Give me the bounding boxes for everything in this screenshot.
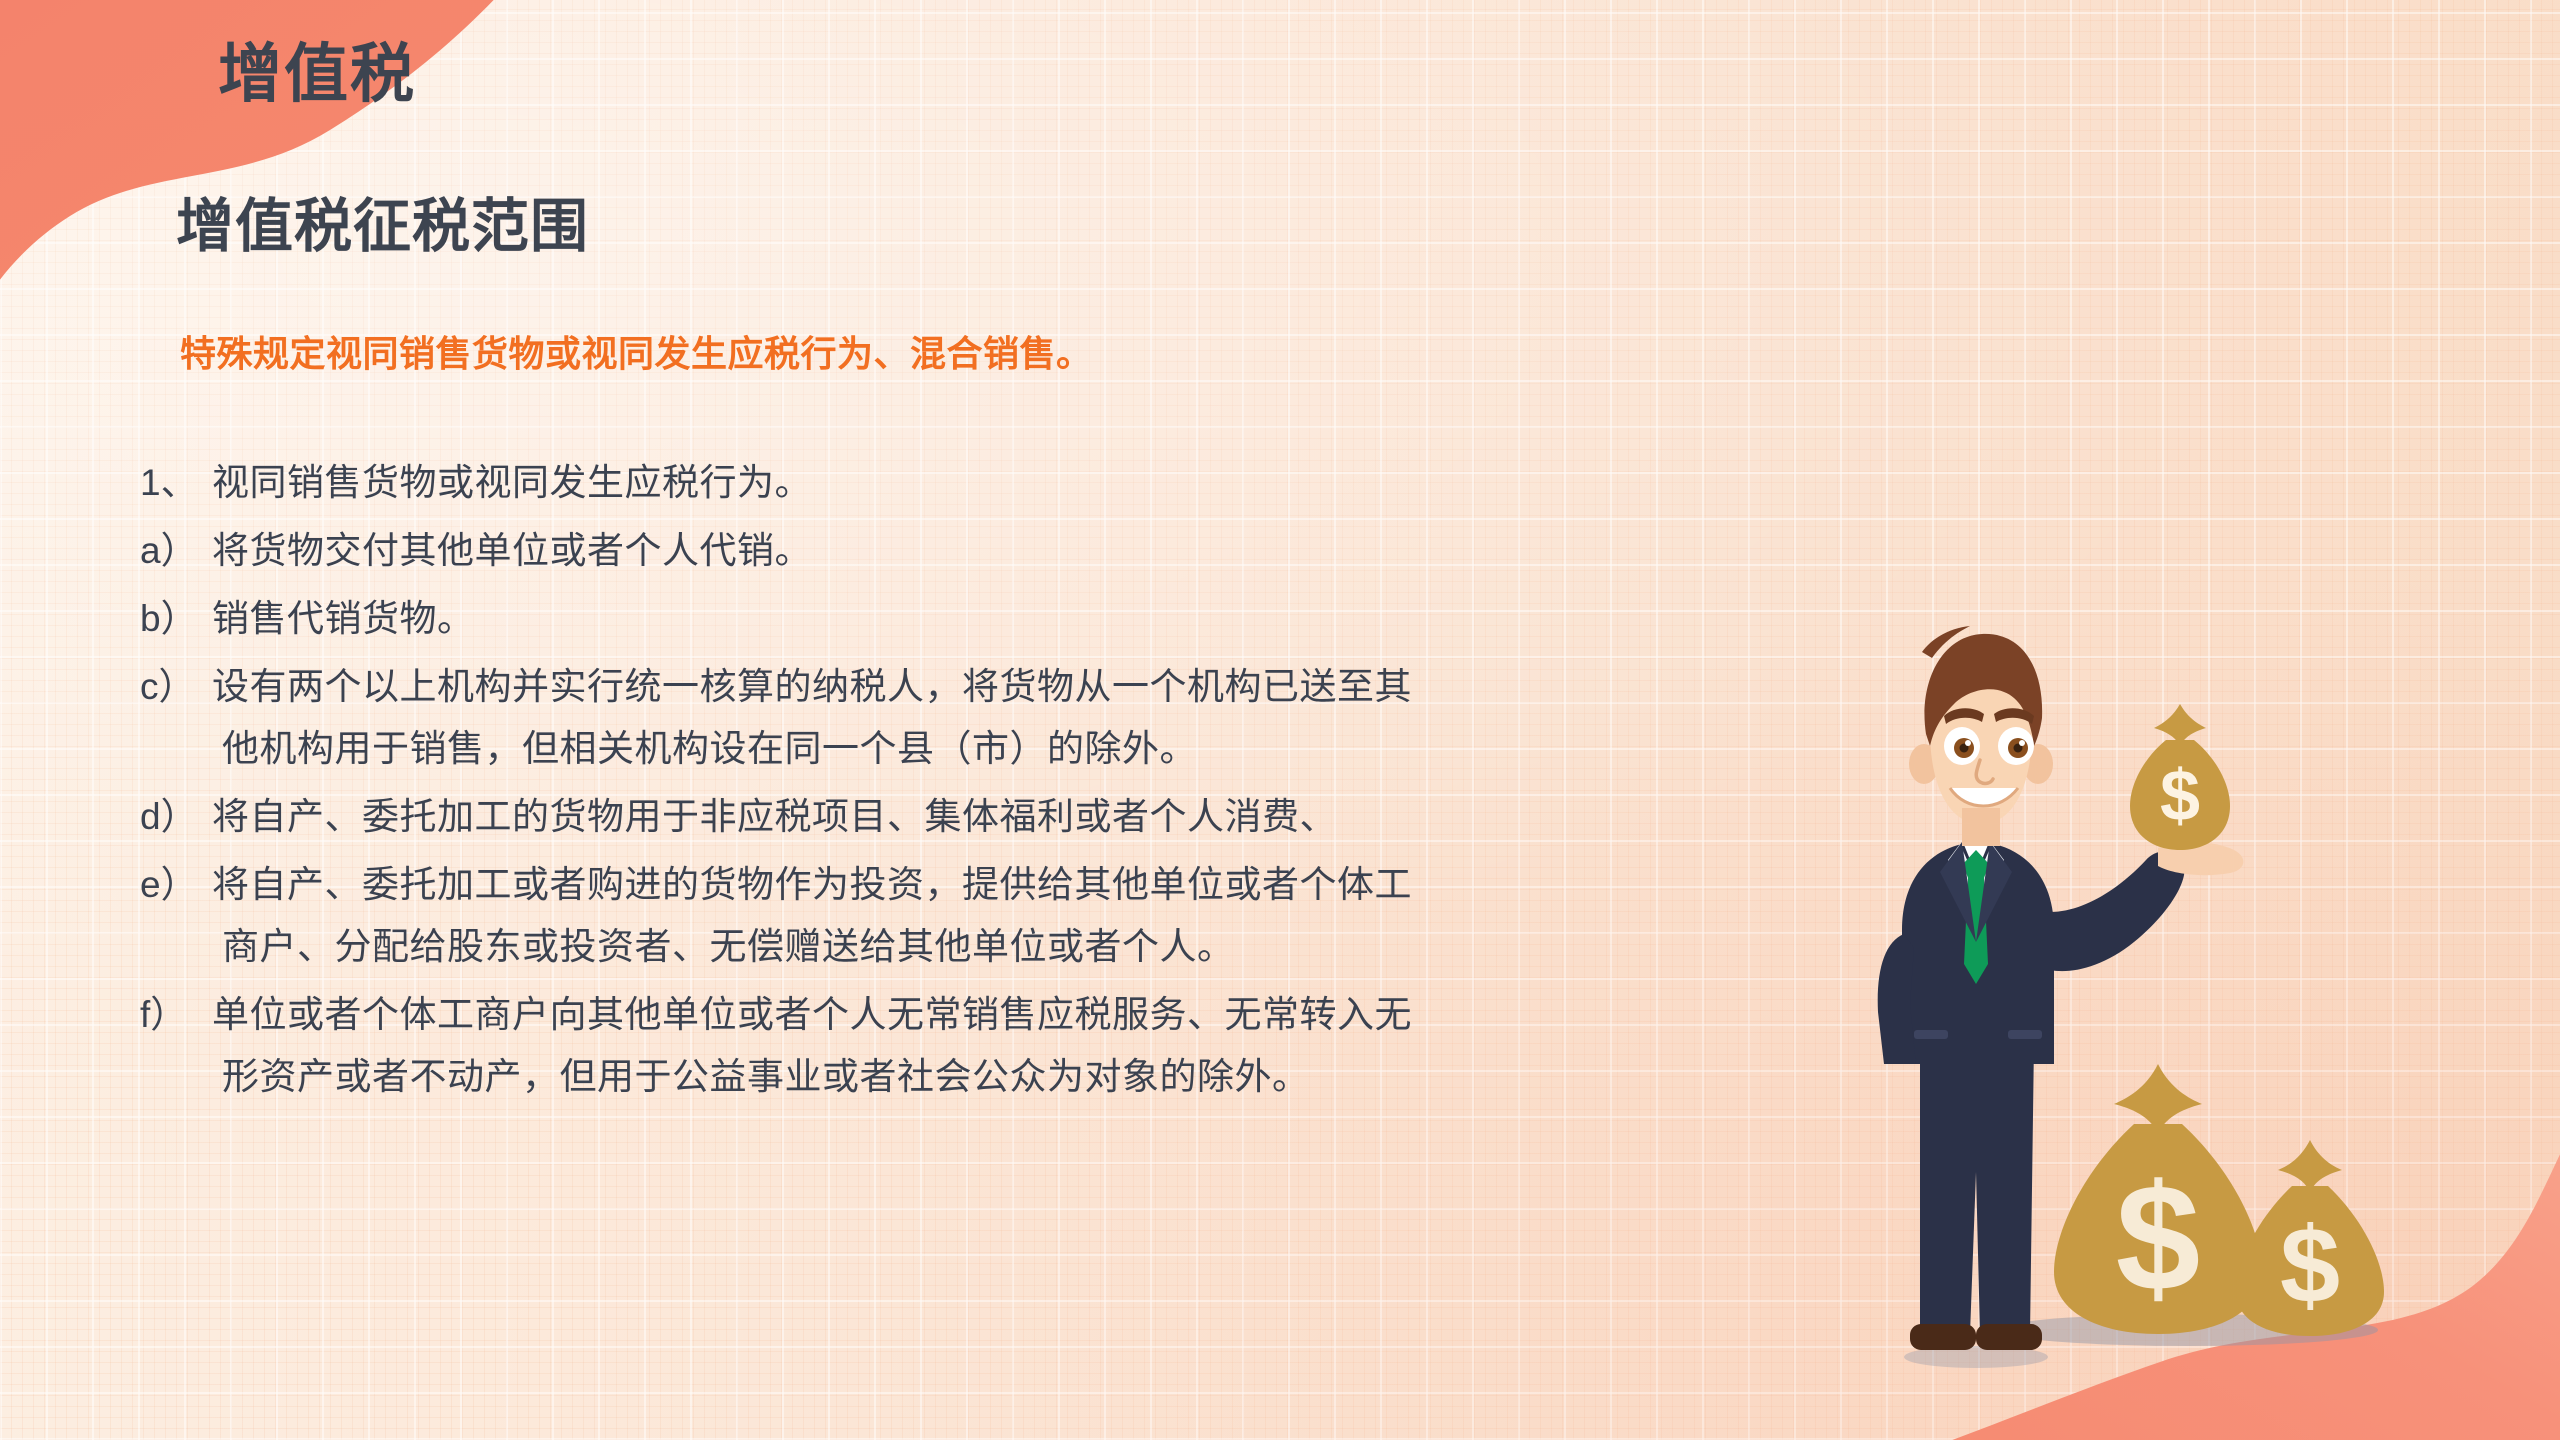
list-item-body: 视同销售货物或视同发生应税行为。 [212, 452, 1840, 514]
list-item-line: 单位或者个体工商户向其他单位或者个人无常销售应税服务、无常转入无 [212, 984, 1840, 1046]
lead-statement: 特殊规定视同销售货物或视同发生应税行为、混合销售。 [180, 332, 1093, 375]
list-item-body: 将自产、委托加工的货物用于非应税项目、集体福利或者个人消费、 [212, 786, 1840, 848]
list-item-marker: d） [140, 786, 212, 848]
list-item-line: 销售代销货物。 [212, 588, 1840, 650]
jacket-pocket-right [2008, 1030, 2042, 1039]
list-item-marker: f） [140, 984, 212, 1046]
eye-highlight-left [1965, 740, 1971, 746]
eye-highlight-right [2019, 740, 2025, 746]
list-item: c） 设有两个以上机构并实行统一核算的纳税人，将货物从一个机构已送至其 他机构用… [140, 656, 1840, 780]
dollar-sign: $ [2160, 756, 2200, 836]
list-item: e） 将自产、委托加工或者购进的货物作为投资，提供给其他单位或者个体工 商户、分… [140, 854, 1840, 978]
list-item-marker: c） [140, 656, 212, 718]
list-item-marker: a） [140, 520, 212, 582]
list-item-marker: 1、 [140, 452, 212, 514]
list-item-body: 单位或者个体工商户向其他单位或者个人无常销售应税服务、无常转入无 形资产或者不动… [212, 984, 1840, 1108]
list-item-body: 将货物交付其他单位或者个人代销。 [212, 520, 1840, 582]
list-item-line: 商户、分配给股东或投资者、无偿赠送给其他单位或者个人。 [212, 916, 1840, 978]
content-list: 1、 视同销售货物或视同发生应税行为。 a） 将货物交付其他单位或者个人代销。 … [140, 452, 1840, 1114]
list-item-line: 视同销售货物或视同发生应税行为。 [212, 452, 1840, 514]
page-subtitle: 增值税征税范围 [176, 194, 589, 261]
trousers [1920, 1042, 2034, 1334]
list-item-line: 他机构用于销售，但相关机构设在同一个县（市）的除外。 [212, 718, 1840, 780]
list-item-body: 销售代销货物。 [212, 588, 1840, 650]
page-title: 增值税 [218, 38, 416, 112]
list-item: b） 销售代销货物。 [140, 588, 1840, 650]
list-item: d） 将自产、委托加工的货物用于非应税项目、集体福利或者个人消费、 [140, 786, 1840, 848]
money-bag-held: $ [2130, 704, 2230, 850]
dollar-sign: $ [2116, 1153, 2201, 1323]
shoe-left [1910, 1324, 1976, 1350]
arm-right-raised [2050, 851, 2184, 971]
list-item-marker: e） [140, 854, 212, 916]
list-item: f） 单位或者个体工商户向其他单位或者个人无常销售应税服务、无常转入无 形资产或… [140, 984, 1840, 1108]
list-item-line: 设有两个以上机构并实行统一核算的纳税人，将货物从一个机构已送至其 [212, 656, 1840, 718]
money-bag-small: $ [2236, 1140, 2384, 1336]
list-item: 1、 视同销售货物或视同发生应税行为。 [140, 452, 1840, 514]
money-bag-large: $ [2054, 1064, 2262, 1334]
list-item-marker: b） [140, 588, 212, 650]
list-item-body: 将自产、委托加工或者购进的货物作为投资，提供给其他单位或者个体工 商户、分配给股… [212, 854, 1840, 978]
dollar-sign: $ [2280, 1204, 2340, 1325]
illustration-businessman-with-money: $ $ $ [1858, 612, 2478, 1402]
list-item-line: 形资产或者不动产，但用于公益事业或者社会公众为对象的除外。 [212, 1046, 1840, 1108]
list-item-line: 将货物交付其他单位或者个人代销。 [212, 520, 1840, 582]
list-item-line: 将自产、委托加工或者购进的货物作为投资，提供给其他单位或者个体工 [212, 854, 1840, 916]
list-item: a） 将货物交付其他单位或者个人代销。 [140, 520, 1840, 582]
slide-canvas: 增值税 增值税征税范围 特殊规定视同销售货物或视同发生应税行为、混合销售。 1、… [0, 0, 2560, 1440]
shoe-right [1976, 1324, 2042, 1350]
list-item-line: 将自产、委托加工的货物用于非应税项目、集体福利或者个人消费、 [212, 786, 1840, 848]
jacket-pocket-left [1914, 1030, 1948, 1039]
list-item-body: 设有两个以上机构并实行统一核算的纳税人，将货物从一个机构已送至其 他机构用于销售… [212, 656, 1840, 780]
arm-left [1878, 934, 1916, 1064]
neck [1962, 808, 2000, 846]
